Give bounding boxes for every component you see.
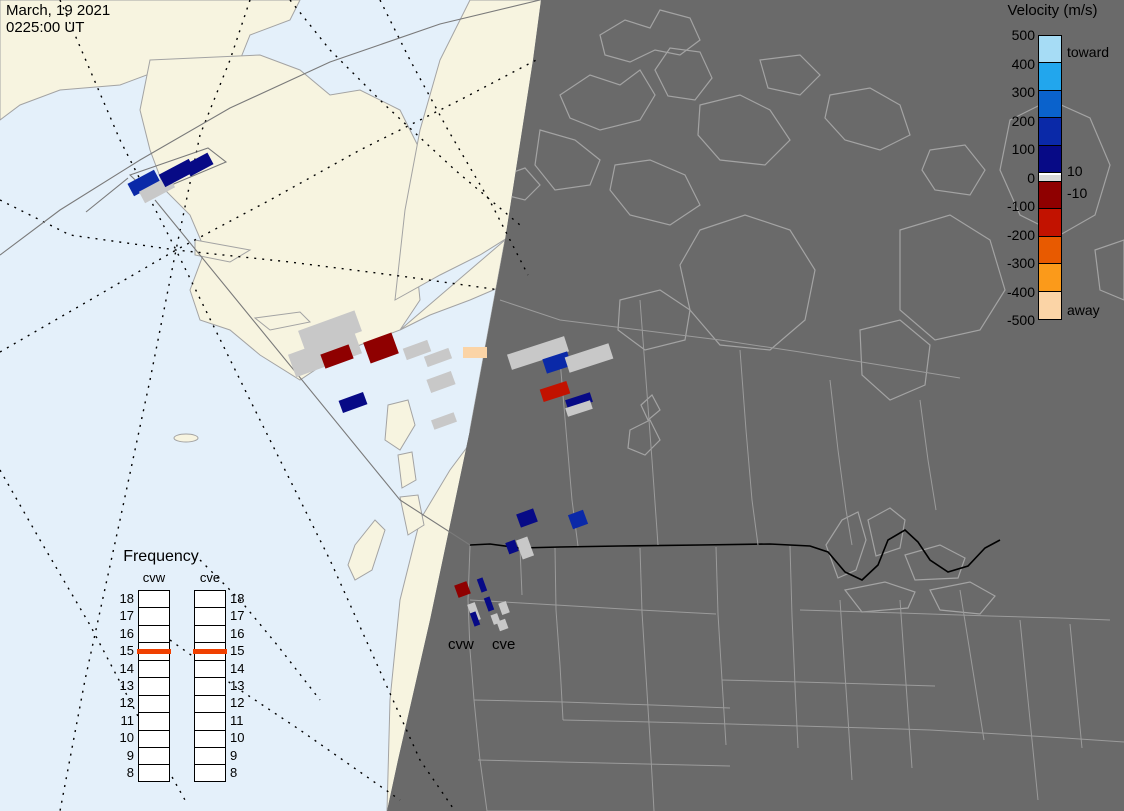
frequency-scale-right-11: 11 [230, 714, 252, 727]
frequency-scale-right-8: 8 [230, 766, 252, 779]
frequency-scale-left-12: 12 [112, 696, 134, 709]
colorbar-band--50 [1039, 182, 1061, 209]
frequency-segment [195, 626, 225, 643]
colorbar-strip [1038, 35, 1062, 320]
frequency-scale-right-14: 14 [230, 662, 252, 675]
colorbar-tick--400: -400 [985, 285, 1035, 299]
frequency-column-cvw[interactable] [138, 590, 170, 782]
frequency-scale-right-15: 15 [230, 644, 252, 657]
colorbar-tick-0: 0 [985, 171, 1035, 185]
frequency-scale-right-18: 18 [230, 592, 252, 605]
frequency-scale-right-9: 9 [230, 749, 252, 762]
frequency-segment [195, 748, 225, 765]
frequency-scale-left-17: 17 [112, 609, 134, 622]
frequency-segment [195, 591, 225, 608]
colorbar-tick--500: -500 [985, 313, 1035, 327]
colorbar-tick-500: 500 [985, 28, 1035, 42]
colorbar-tick--200: -200 [985, 228, 1035, 242]
frequency-segment [139, 591, 169, 608]
frequency-title: Frequency [88, 548, 234, 566]
frequency-scale-left-18: 18 [112, 592, 134, 605]
frequency-column-header-cve: cve [187, 570, 233, 585]
frequency-column-cve[interactable] [194, 590, 226, 782]
time-text: 0225:00 UT [6, 19, 84, 36]
frequency-segment [139, 713, 169, 730]
radar-cell [463, 347, 487, 358]
date-text: March, 19 2021 [6, 2, 110, 19]
colorbar-band--450 [1039, 292, 1061, 319]
frequency-scale-right-17: 17 [230, 609, 252, 622]
colorbar-band-150 [1039, 118, 1061, 145]
colorbar-tick-400: 400 [985, 57, 1035, 71]
colorbar-inner-pos-label: 10 [1067, 164, 1083, 178]
frequency-segment [195, 661, 225, 678]
frequency-marker-cve [193, 649, 227, 654]
frequency-segment [139, 608, 169, 625]
frequency-segment [139, 765, 169, 782]
colorbar-band--250 [1039, 237, 1061, 264]
colorbar-band-350 [1039, 63, 1061, 90]
frequency-scale-left-10: 10 [112, 731, 134, 744]
colorbar-tick-300: 300 [985, 85, 1035, 99]
site-label-cve: cve [492, 636, 515, 653]
frequency-segment [195, 678, 225, 695]
colorbar-toward-label: toward [1067, 45, 1109, 59]
frequency-segment [195, 731, 225, 748]
frequency-segment [139, 678, 169, 695]
radar-map-canvas: cvwcve March, 19 2021 0225:00 UT Velocit… [0, 0, 1124, 811]
frequency-scale-left-8: 8 [112, 766, 134, 779]
frequency-scale-left-11: 11 [112, 714, 134, 727]
frequency-segment [139, 731, 169, 748]
colorbar-title: Velocity (m/s) [981, 2, 1124, 19]
colorbar-band--350 [1039, 264, 1061, 291]
frequency-scale-right-16: 16 [230, 627, 252, 640]
colorbar-tick--300: -300 [985, 256, 1035, 270]
frequency-scale-left-13: 13 [112, 679, 134, 692]
frequency-segment [139, 696, 169, 713]
frequency-segment [195, 608, 225, 625]
frequency-scale-left-15: 15 [112, 644, 134, 657]
datetime-stamp: March, 19 2021 0225:00 UT [6, 2, 110, 36]
colorbar-away-label: away [1067, 303, 1100, 317]
colorbar-tick-100: 100 [985, 142, 1035, 156]
colorbar-band-50 [1039, 146, 1061, 173]
frequency-scale-right-12: 12 [230, 696, 252, 709]
colorbar-band-250 [1039, 91, 1061, 118]
frequency-scale-left-14: 14 [112, 662, 134, 675]
frequency-segment [195, 765, 225, 782]
frequency-scale-left-16: 16 [112, 627, 134, 640]
frequency-segment [139, 661, 169, 678]
frequency-column-header-cvw: cvw [131, 570, 177, 585]
frequency-segment [139, 626, 169, 643]
frequency-scale-left-9: 9 [112, 749, 134, 762]
us-canada-border [470, 530, 1000, 580]
frequency-segment [139, 748, 169, 765]
site-label-cvw: cvw [448, 636, 474, 653]
frequency-segment [195, 713, 225, 730]
colorbar-tick-200: 200 [985, 114, 1035, 128]
colorbar-inner-neg-label: -10 [1067, 186, 1087, 200]
colorbar-band-0 [1039, 173, 1061, 182]
frequency-marker-cvw [137, 649, 171, 654]
colorbar-band-450 [1039, 36, 1061, 63]
frequency-scale-right-13: 13 [230, 679, 252, 692]
colorbar-tick--100: -100 [985, 199, 1035, 213]
velocity-colorbar: Velocity (m/s) 5004003002001000-100-200-… [981, 0, 1124, 330]
frequency-legend: Frequency cvwcve181817171616151514141313… [88, 548, 234, 783]
frequency-segment [195, 696, 225, 713]
frequency-scale-right-10: 10 [230, 731, 252, 744]
colorbar-band--150 [1039, 209, 1061, 236]
